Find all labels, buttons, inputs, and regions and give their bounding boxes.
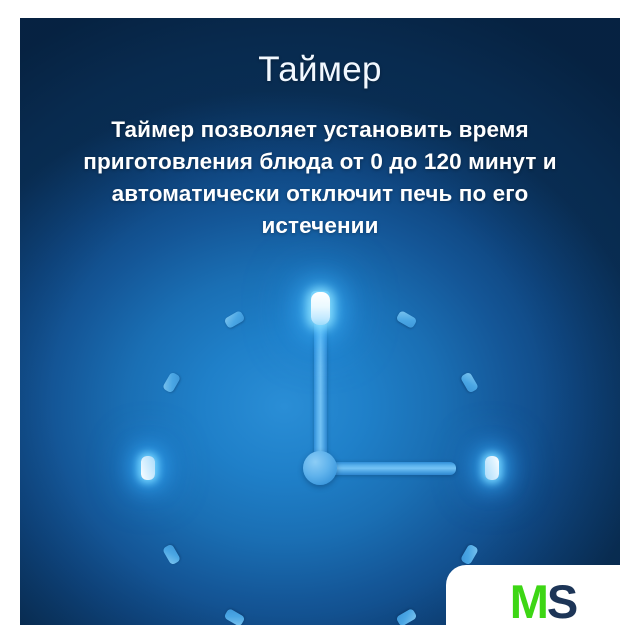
text-block: Таймер Таймер позволяет установить время… [20,18,620,242]
clock-minute-hand-glow-tip [311,292,330,325]
screenshot-root: Таймер Таймер позволяет установить время… [0,0,640,640]
brand-logo: MS [446,565,640,640]
description-text: Таймер позволяет установить время пригот… [60,114,580,242]
clock-hour-hand [320,462,456,475]
page-title: Таймер [20,48,620,92]
logo-letter-m: M [510,575,547,628]
logo-letter-s: S [547,575,576,628]
clock-tick-mark [459,543,478,565]
brand-logo-text: MS [510,578,577,627]
promo-panel: Таймер Таймер позволяет установить время… [20,18,620,625]
clock-tick-mark [162,371,181,393]
clock-tick-mark [459,371,478,393]
clock-minute-hand [314,300,327,468]
clock-tick-mark [162,543,181,565]
clock-tick-mark [223,607,245,625]
clock-tick-highlight [485,456,499,480]
clock-center-hub [303,451,337,485]
clock-tick-mark [223,310,245,329]
clock-tick-mark [395,607,417,625]
clock-tick-mark [395,310,417,329]
clock-tick-highlight [141,456,155,480]
